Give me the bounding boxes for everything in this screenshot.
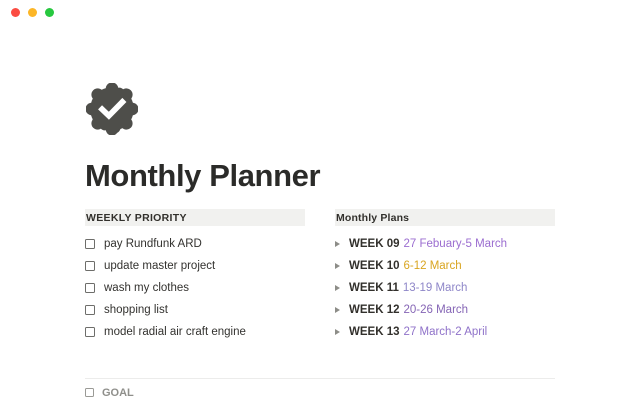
monthly-plans-column: Monthly Plans WEEK 09 27 Febuary-5 March… [335, 209, 555, 343]
list-item[interactable]: wash my clothes [85, 277, 305, 299]
checkbox-icon[interactable] [85, 327, 95, 337]
list-item[interactable]: model radial air craft engine [85, 321, 305, 343]
list-item-label: shopping list [104, 303, 168, 317]
minimize-window-button[interactable] [28, 8, 37, 17]
weekly-priority-column: WEEKLY PRIORITY pay Rundfunk ARD update … [85, 209, 305, 343]
week-label: WEEK 09 [349, 238, 400, 250]
list-item-label: update master project [104, 259, 215, 273]
weekly-priority-header: WEEKLY PRIORITY [85, 209, 305, 226]
week-label: WEEK 13 [349, 326, 400, 338]
week-date-range: 13-19 March [403, 282, 468, 294]
monthly-plans-list: WEEK 09 27 Febuary-5 March WEEK 10 6-12 … [335, 233, 555, 343]
document-canvas: Monthly Planner WEEKLY PRIORITY pay Rund… [0, 26, 640, 400]
verified-check-badge-icon[interactable] [86, 83, 138, 135]
list-item[interactable]: update master project [85, 255, 305, 277]
close-window-button[interactable] [11, 8, 20, 17]
list-item[interactable]: WEEK 13 27 March-2 April [335, 321, 555, 343]
section-divider [85, 378, 555, 379]
window-traffic-lights [11, 8, 54, 17]
list-item[interactable]: WEEK 09 27 Febuary-5 March [335, 233, 555, 255]
week-date-range: 6-12 March [404, 260, 462, 272]
week-label: WEEK 11 [349, 282, 399, 294]
weekly-priority-list: pay Rundfunk ARD update master project w… [85, 233, 305, 343]
list-item[interactable]: WEEK 11 13-19 March [335, 277, 555, 299]
list-item[interactable]: shopping list [85, 299, 305, 321]
list-item-label: pay Rundfunk ARD [104, 237, 202, 251]
chevron-right-icon[interactable] [335, 285, 340, 291]
checkbox-icon[interactable] [85, 283, 95, 293]
monthly-plans-header-label: Monthly Plans [336, 212, 409, 224]
checkbox-icon[interactable] [85, 261, 95, 271]
chevron-right-icon[interactable] [335, 329, 340, 335]
week-date-range: 27 Febuary-5 March [404, 238, 508, 250]
clipped-footer-row[interactable]: GOAL [85, 385, 134, 400]
maximize-window-button[interactable] [45, 8, 54, 17]
week-label: WEEK 12 [349, 304, 400, 316]
checkbox-icon[interactable] [85, 388, 94, 397]
app-window: Monthly Planner WEEKLY PRIORITY pay Rund… [0, 0, 640, 400]
chevron-right-icon[interactable] [335, 241, 340, 247]
page-title: Monthly Planner [85, 158, 320, 194]
clipped-footer-label: GOAL [102, 387, 134, 399]
checkbox-icon[interactable] [85, 305, 95, 315]
monthly-plans-header: Monthly Plans [335, 209, 555, 226]
checkbox-icon[interactable] [85, 239, 95, 249]
list-item[interactable]: WEEK 10 6-12 March [335, 255, 555, 277]
list-item[interactable]: WEEK 12 20-26 March [335, 299, 555, 321]
list-item-label: model radial air craft engine [104, 325, 246, 339]
week-label: WEEK 10 [349, 260, 400, 272]
weekly-priority-header-label: WEEKLY PRIORITY [86, 212, 187, 224]
window-title-bar [0, 0, 640, 26]
week-date-range: 27 March-2 April [404, 326, 488, 338]
chevron-right-icon[interactable] [335, 263, 340, 269]
list-item[interactable]: pay Rundfunk ARD [85, 233, 305, 255]
week-date-range: 20-26 March [404, 304, 469, 316]
list-item-label: wash my clothes [104, 281, 189, 295]
chevron-right-icon[interactable] [335, 307, 340, 313]
